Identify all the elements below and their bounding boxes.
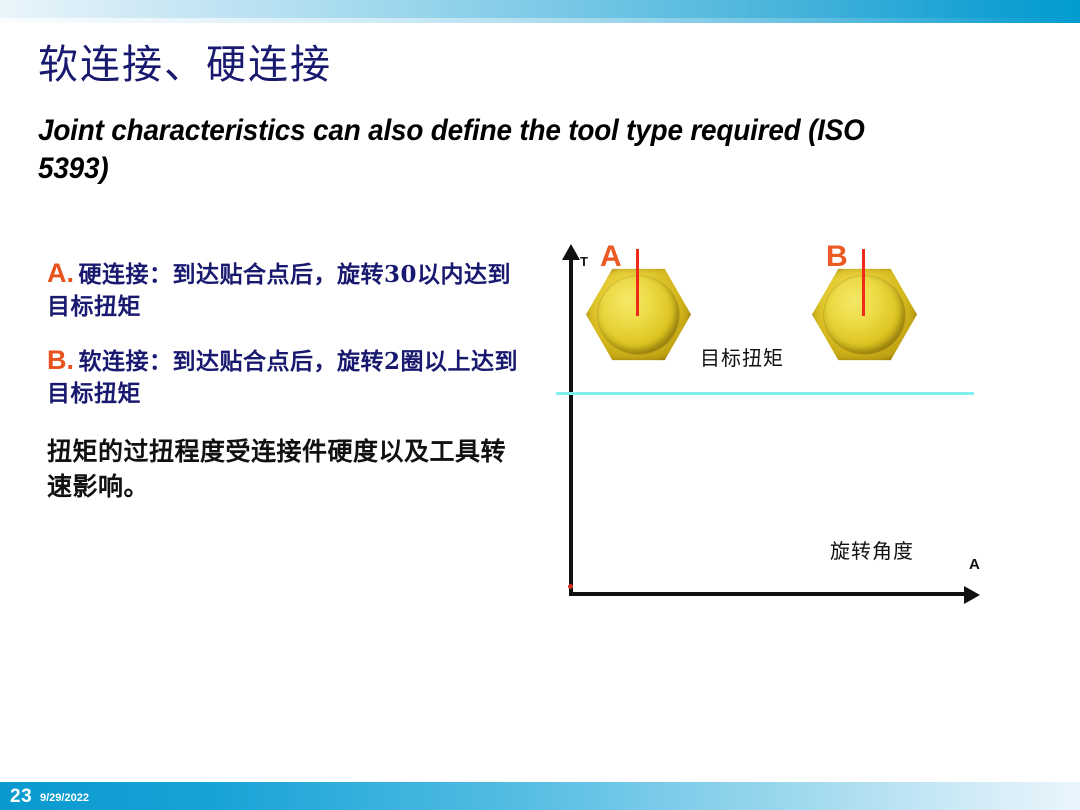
bullet-text-a: 硬连接：到达贴合点后，旋转30以内达到目标扭矩: [47, 261, 511, 320]
slide-page-number: 23: [10, 787, 32, 806]
target-torque-line: [556, 392, 974, 395]
bullet-marker-b: B.: [47, 345, 74, 375]
torque-axis-arrow-icon: [562, 244, 580, 260]
bolt-rotation-marker-icon: [636, 249, 639, 316]
slide-canvas: 软连接、硬连接 Joint characteristics can also d…: [0, 0, 1080, 810]
body-note: 扭矩的过扭程度受连接件硬度以及工具转速影响。: [47, 434, 522, 504]
rotation-angle-label: 旋转角度: [830, 535, 914, 564]
angle-axis-arrow-icon: [964, 586, 980, 604]
slide-footer-bar: 23 9/29/2022: [0, 782, 1080, 810]
target-torque-label: 目标扭矩: [700, 342, 784, 371]
bolt-label-b: B: [826, 240, 848, 274]
angle-axis-line: [569, 592, 970, 596]
top-bar-highlight: [0, 18, 1080, 23]
bolt-rotation-marker-icon: [862, 249, 865, 316]
bolt-head-a: A: [586, 262, 691, 367]
bolt-label-a: A: [600, 240, 622, 274]
slide-date: 9/29/2022: [40, 792, 89, 804]
bullet-marker-a: A.: [47, 258, 74, 288]
bolt-head-b: B: [812, 262, 917, 367]
bullet-item-a: A. 硬连接：到达贴合点后，旋转30以内达到目标扭矩: [47, 258, 522, 323]
torque-axis-line: [569, 258, 573, 596]
origin-dot-icon: [568, 584, 573, 589]
page-title: 软连接、硬连接: [38, 42, 332, 88]
bullet-item-b: B. 软连接：到达贴合点后，旋转2圈以上达到目标扭矩: [47, 345, 522, 410]
angle-axis-label: A: [969, 556, 980, 573]
slide-top-accent-bar: [0, 0, 1080, 23]
torque-angle-diagram: T A 目标扭矩 旋转角度 A B: [550, 240, 990, 615]
bullet-text-b: 软连接：到达贴合点后，旋转2圈以上达到目标扭矩: [47, 348, 518, 407]
body-text-column: A. 硬连接：到达贴合点后，旋转30以内达到目标扭矩 B. 软连接：到达贴合点后…: [47, 258, 522, 520]
page-subtitle: Joint characteristics can also define th…: [38, 112, 875, 188]
